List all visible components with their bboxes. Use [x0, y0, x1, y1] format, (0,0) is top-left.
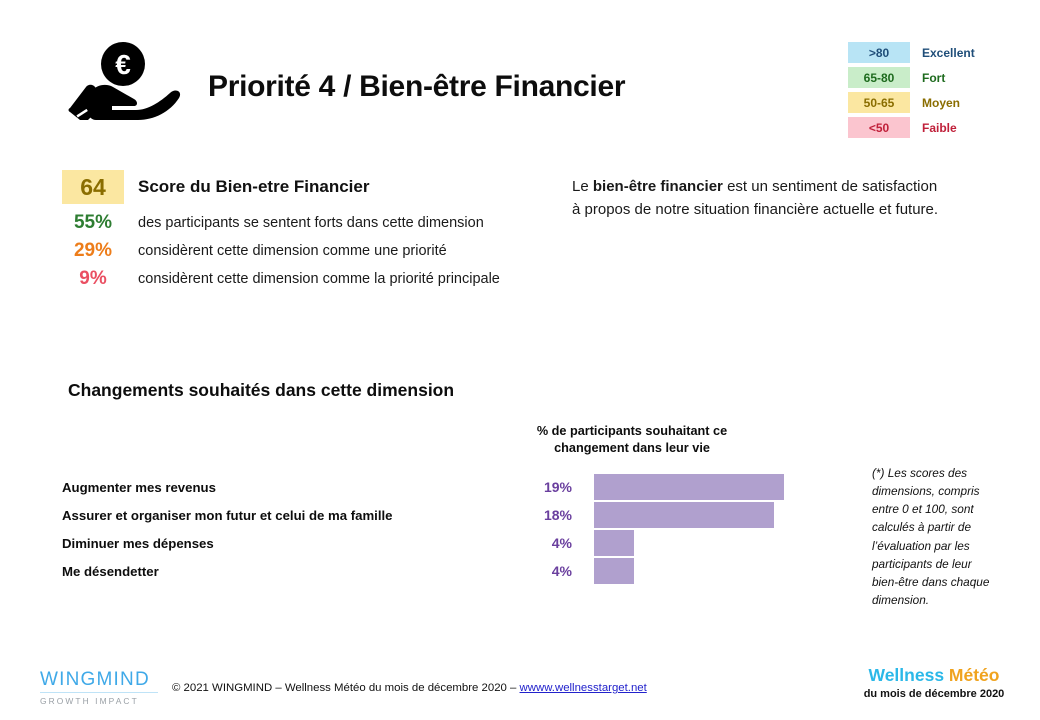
stat-text-main-priority: considèrent cette dimension comme la pri… — [138, 269, 500, 290]
chart-bar-track — [594, 557, 762, 585]
chart-column-header: % de participants souhaitant ce changeme… — [514, 423, 750, 457]
stat-value-priority: 29% — [62, 240, 124, 262]
chart-row-label: Assurer et organiser mon futur et celui … — [62, 508, 522, 523]
legend-label-faible: Faible — [922, 121, 957, 135]
wellness-meteo-word-meteo: Météo — [949, 665, 1000, 685]
chart-bar — [594, 502, 774, 528]
legend-swatch-excellent: >80 — [848, 42, 910, 63]
score-legend: >80 Excellent 65-80 Fort 50-65 Moyen <50… — [848, 42, 1028, 142]
dimension-description: Le bien-être financier est un sentiment … — [572, 176, 944, 222]
stat-text-strong: des participants se sentent forts dans c… — [138, 213, 484, 234]
legend-swatch-fort: 65-80 — [848, 67, 910, 88]
legend-item-moyen: 50-65 Moyen — [848, 92, 1028, 113]
chart-row: Me désendetter 4% — [62, 557, 762, 585]
legend-item-fort: 65-80 Fort — [848, 67, 1028, 88]
chart-row: Diminuer mes dépenses 4% — [62, 529, 762, 557]
wingmind-logo: WINGMIND GROWTH IMPACT — [40, 670, 158, 706]
wingmind-logo-name: WINGMIND — [40, 670, 158, 693]
wellness-meteo-title: Wellness Météo — [844, 666, 1024, 685]
chart-bar-track — [594, 501, 774, 529]
score-footnote: (*) Les scores des dimensions, compris e… — [872, 464, 1000, 609]
score-summary: 64 Score du Bien-etre Financier 55% des … — [62, 170, 522, 290]
chart-row-value: 4% — [522, 535, 572, 551]
wellness-meteo-word-wellness: Wellness — [869, 665, 945, 685]
stat-value-main-priority: 9% — [62, 268, 124, 290]
chart-row-value: 4% — [522, 563, 572, 579]
chart-row-label: Diminuer mes dépenses — [62, 536, 522, 551]
chart-bar — [594, 530, 634, 556]
wingmind-logo-tagline: GROWTH IMPACT — [40, 696, 158, 706]
legend-label-excellent: Excellent — [922, 46, 975, 60]
chart-bar-track — [594, 529, 762, 557]
stat-row-priority: 29% considèrent cette dimension comme un… — [62, 240, 522, 262]
chart-row: Augmenter mes revenus 19% — [62, 473, 762, 501]
chart-row-value: 19% — [522, 479, 572, 495]
score-badge: 64 — [62, 170, 124, 204]
chart-row-label: Me désendetter — [62, 564, 522, 579]
chart-bar — [594, 558, 634, 584]
hand-holding-euro-coin-icon: € — [62, 38, 187, 120]
score-headline-row: 64 Score du Bien-etre Financier — [62, 170, 522, 204]
legend-swatch-moyen: 50-65 — [848, 92, 910, 113]
chart-bar-track — [594, 473, 784, 501]
changes-bar-chart: Augmenter mes revenus 19% Assurer et org… — [62, 473, 762, 585]
stat-row-strong: 55% des participants se sentent forts da… — [62, 212, 522, 234]
stat-value-strong: 55% — [62, 212, 124, 234]
legend-label-fort: Fort — [922, 71, 945, 85]
stat-text-priority: considèrent cette dimension comme une pr… — [138, 241, 447, 262]
legend-label-moyen: Moyen — [922, 96, 960, 110]
stat-row-main-priority: 9% considèrent cette dimension comme la … — [62, 268, 522, 290]
wellness-target-link[interactable]: wwww.wellnesstarget.net — [520, 682, 647, 694]
wellness-meteo-subtitle: du mois de décembre 2020 — [844, 688, 1024, 700]
description-bold: bien-être financier — [593, 178, 723, 195]
description-lead: Le — [572, 178, 593, 195]
chart-row: Assurer et organiser mon futur et celui … — [62, 501, 762, 529]
legend-item-faible: <50 Faible — [848, 117, 1028, 138]
score-title: Score du Bien-etre Financier — [138, 170, 369, 204]
legend-swatch-faible: <50 — [848, 117, 910, 138]
copyright-line: © 2021 WINGMIND – Wellness Météo du mois… — [172, 682, 647, 694]
chart-row-label: Augmenter mes revenus — [62, 480, 522, 495]
chart-row-value: 18% — [522, 507, 572, 523]
page-title: Priorité 4 / Bien-être Financier — [208, 70, 625, 104]
chart-bar — [594, 474, 784, 500]
wellness-meteo-logo: Wellness Météo du mois de décembre 2020 — [844, 666, 1024, 700]
chart-heading: Changements souhaités dans cette dimensi… — [68, 380, 454, 401]
copyright-text: © 2021 WINGMIND – Wellness Météo du mois… — [172, 682, 520, 694]
legend-item-excellent: >80 Excellent — [848, 42, 1028, 63]
svg-text:€: € — [115, 49, 131, 80]
